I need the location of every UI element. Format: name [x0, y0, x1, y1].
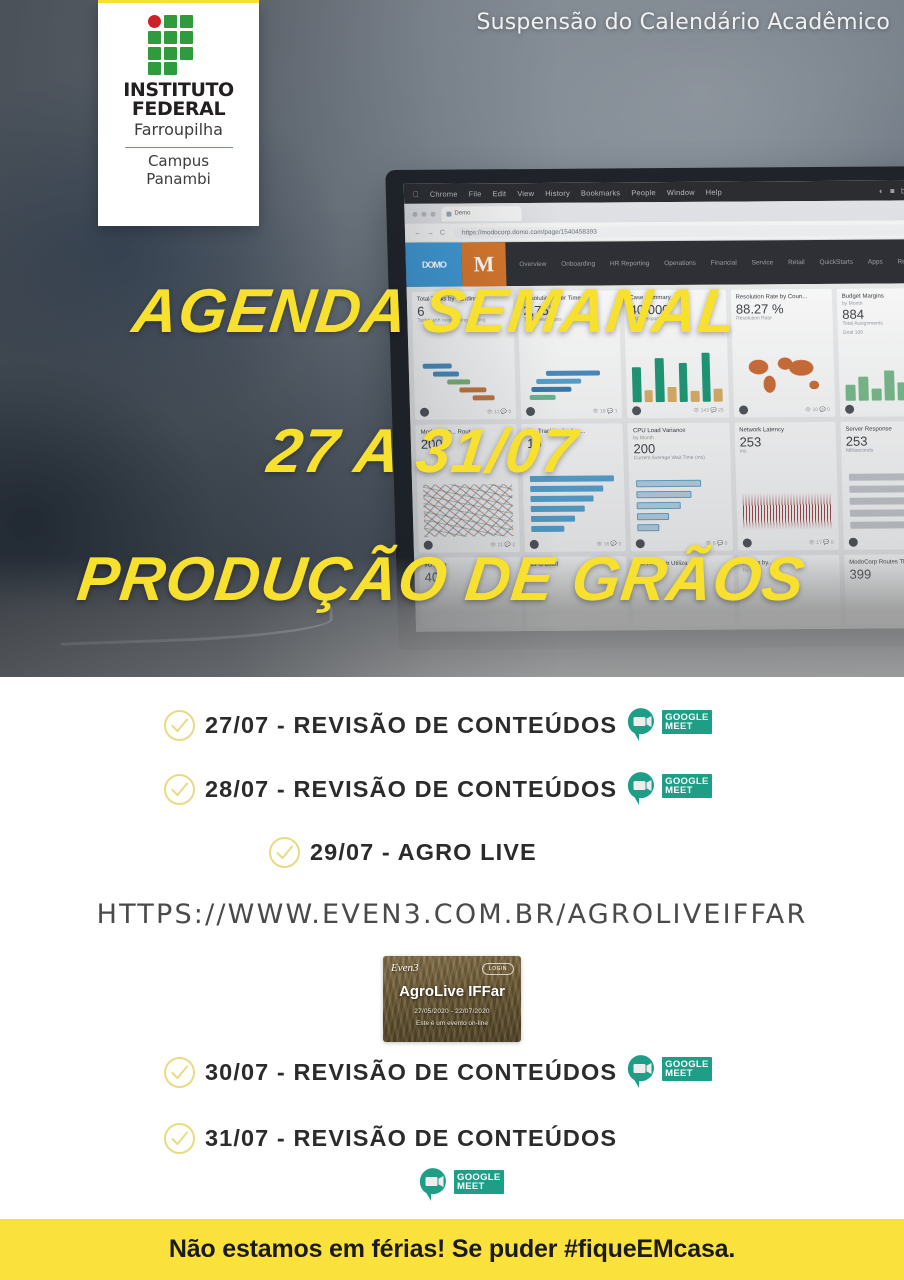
google-meet-icon [626, 1054, 660, 1090]
even3-event-title: AgroLive IFFar [383, 983, 521, 1000]
logo-federal-text: FEDERAL [132, 100, 225, 120]
logo-campus-line2: Panambi [146, 171, 211, 189]
agenda-row-30-07[interactable]: 30/07 - REVISÃO DE CONTEÚDOS GOOGLE MEET [163, 1054, 712, 1090]
even3-event-dates: 27/05/2020 - 22/07/2020 [383, 1008, 521, 1015]
logo-farroupilha-text: Farroupilha [134, 120, 223, 141]
footer-banner: Não estamos em férias! Se puder #fiqueEM… [0, 1219, 904, 1280]
agenda-item-label: 31/07 - REVISÃO DE CONTEÚDOS [205, 1125, 617, 1152]
hero-photo-section:  Chrome File Edit View History Bookmark… [0, 0, 904, 677]
institution-logo-card: INSTITUTO FEDERAL Farroupilha Campus Pan… [98, 0, 259, 226]
agenda-row-27-07[interactable]: 27/07 - REVISÃO DE CONTEÚDOS GOOGLE MEET [163, 707, 712, 743]
agenda-row-29-07[interactable]: 29/07 - AGRO LIVE [268, 836, 537, 869]
meet-word-meet: MEET [457, 1182, 501, 1191]
agenda-list-section: 27/07 - REVISÃO DE CONTEÚDOS GOOGLE MEET… [0, 677, 904, 1219]
google-meet-wordmark: GOOGLE MEET [662, 710, 712, 734]
google-meet-wordmark: GOOGLE MEET [662, 1057, 712, 1081]
google-meet-badge-31-07[interactable]: GOOGLE MEET [418, 1167, 504, 1203]
logo-instituto-text: INSTITUTO [123, 81, 234, 100]
logo-campus-line1: Campus [148, 153, 209, 171]
meet-word-meet: MEET [665, 1069, 709, 1078]
meet-word-meet: MEET [665, 722, 709, 731]
headline-line-1: AGENDA SEMANAL [129, 276, 742, 347]
google-meet-icon [626, 771, 660, 807]
agenda-item-label: 27/07 - REVISÃO DE CONTEÚDOS [205, 712, 617, 739]
check-circle-icon [163, 773, 196, 806]
headline-line-3: PRODUÇÃO DE GRÃOS [74, 544, 809, 615]
even3-brand-logo: Even3 [391, 962, 418, 974]
check-circle-icon [268, 836, 301, 869]
google-meet-wordmark: GOOGLE MEET [662, 774, 712, 798]
footer-message: Não estamos em férias! Se puder #fiqueEM… [169, 1235, 735, 1264]
even3-event-subtitle: Este é um evento on-line [383, 1020, 521, 1027]
check-circle-icon [163, 709, 196, 742]
google-meet-icon [418, 1167, 452, 1203]
meet-word-meet: MEET [665, 786, 709, 795]
google-meet-badge[interactable]: GOOGLE MEET [626, 1054, 712, 1090]
even3-event-card[interactable]: Even3 LOGIN AgroLive IFFar 27/05/2020 - … [383, 956, 521, 1042]
agenda-item-label: 29/07 - AGRO LIVE [310, 839, 537, 866]
event-url[interactable]: HTTPS://WWW.EVEN3.COM.BR/AGROLIVEIFFAR [0, 899, 904, 930]
agenda-item-label: 28/07 - REVISÃO DE CONTEÚDOS [205, 776, 617, 803]
google-meet-badge[interactable]: GOOGLE MEET [626, 771, 712, 807]
agenda-row-28-07[interactable]: 28/07 - REVISÃO DE CONTEÚDOS GOOGLE MEET [163, 771, 712, 807]
agenda-row-31-07[interactable]: 31/07 - REVISÃO DE CONTEÚDOS [163, 1122, 617, 1155]
if-logo-mark-icon [148, 15, 210, 75]
google-meet-wordmark: GOOGLE MEET [454, 1170, 504, 1194]
headline-line-2: 27 A 31/07 [264, 416, 581, 487]
google-meet-icon [626, 707, 660, 743]
logo-divider [125, 147, 233, 148]
agenda-item-label: 30/07 - REVISÃO DE CONTEÚDOS [205, 1059, 617, 1086]
even3-login-button[interactable]: LOGIN [482, 963, 514, 975]
google-meet-badge[interactable]: GOOGLE MEET [626, 707, 712, 743]
google-meet-badge[interactable]: GOOGLE MEET [418, 1167, 504, 1203]
check-circle-icon [163, 1122, 196, 1155]
check-circle-icon [163, 1056, 196, 1089]
